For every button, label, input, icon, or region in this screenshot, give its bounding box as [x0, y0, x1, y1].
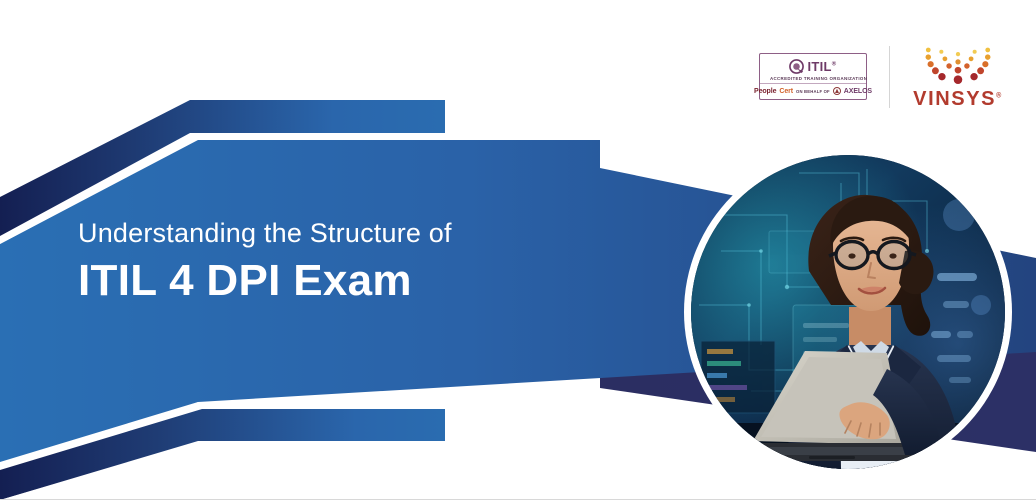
vinsys-chevron-dots-icon	[922, 44, 994, 88]
itil-wordmark-text: ITIL	[807, 59, 831, 74]
headline-block: Understanding the Structure of ITIL 4 DP…	[78, 218, 598, 307]
photo-clip	[691, 155, 1005, 469]
itil-dpi-exam-banner: ITIL® ACCREDITED TRAINING ORGANIZATION P…	[0, 0, 1036, 500]
peoplecert-cert-text: Cert	[779, 88, 793, 95]
vinsys-trademark: ®	[996, 92, 1003, 99]
hero-photo	[691, 155, 1005, 469]
itil-trademark: ®	[832, 61, 837, 67]
itil-badge-divider	[760, 83, 866, 84]
banner-subtitle: Understanding the Structure of	[78, 218, 598, 249]
vinsys-wordmark: VINSYS®	[913, 89, 1003, 109]
peoplecert-row: PeopleCert ON BEHALF OF AXELOS	[770, 87, 856, 95]
vinsys-logo: VINSYS®	[912, 44, 1004, 109]
itil-logo-row: ITIL®	[770, 59, 856, 74]
itil-q-mark-icon	[789, 59, 804, 74]
itil-wordmark: ITIL®	[807, 60, 836, 73]
on-behalf-of-text: ON BEHALF OF	[796, 89, 830, 94]
axelos-mark-icon	[833, 87, 841, 95]
axelos-wordmark: AXELOS	[844, 88, 872, 95]
peoplecert-people-text: People	[754, 88, 776, 95]
banner-title: ITIL 4 DPI Exam	[78, 256, 598, 307]
vinsys-wordmark-text: VINSYS	[913, 88, 996, 110]
itil-accreditation-badge: ITIL® ACCREDITED TRAINING ORGANIZATION P…	[759, 53, 867, 101]
logo-bar: ITIL® ACCREDITED TRAINING ORGANIZATION P…	[759, 44, 1004, 109]
logo-separator	[889, 46, 890, 108]
itil-accreditation-text: ACCREDITED TRAINING ORGANIZATION	[770, 76, 856, 84]
photo-ring	[684, 148, 1012, 476]
